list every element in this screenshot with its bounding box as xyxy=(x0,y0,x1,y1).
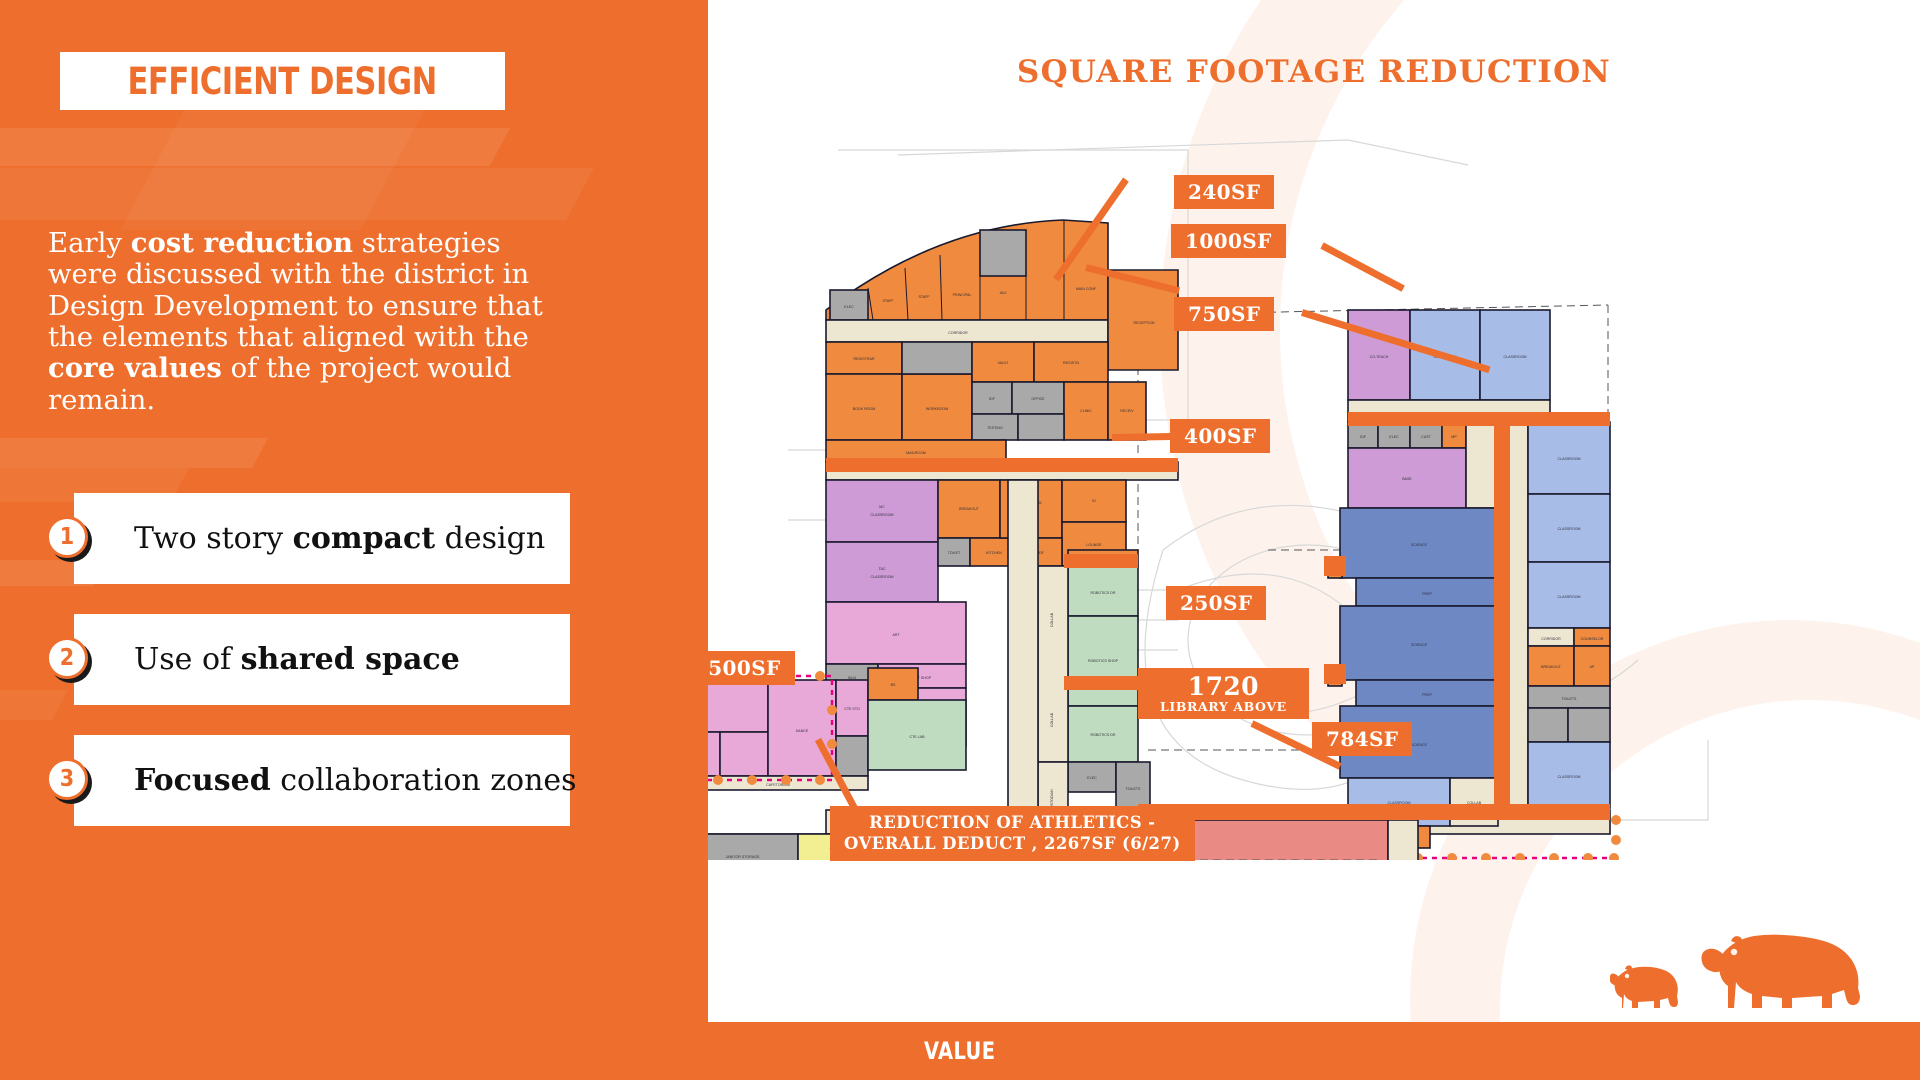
svg-text:BASE: BASE xyxy=(1402,477,1412,481)
callout-athletics-line2: OVERALL DEDUCT , 2267SF (6/27) xyxy=(844,834,1181,855)
svg-text:MC: MC xyxy=(879,505,885,509)
svg-text:CORRIDOR: CORRIDOR xyxy=(948,331,968,335)
numbered-strategy-list: 1 Two story compact design 2 Use of shar… xyxy=(74,493,570,856)
svg-text:CLASSROOM: CLASSROOM xyxy=(1558,595,1581,599)
list-item[interactable]: 3 Focused collaboration zones xyxy=(74,735,570,826)
svg-text:SCIENCE: SCIENCE xyxy=(1411,743,1428,747)
svg-text:OFFICE: OFFICE xyxy=(1031,397,1045,401)
callout-250sf[interactable]: 250SF xyxy=(1166,586,1266,620)
svg-text:ART: ART xyxy=(892,633,900,637)
callout-750sf[interactable]: 750SF xyxy=(1174,297,1274,331)
svg-text:REGISTRAR: REGISTRAR xyxy=(854,357,875,361)
svg-text:ROBOTICS SHOP: ROBOTICS SHOP xyxy=(1088,659,1119,663)
callout-1720-library[interactable]: 1720 LIBRARY ABOVE xyxy=(1138,668,1309,719)
svg-text:CORRIDOR: CORRIDOR xyxy=(1541,637,1561,641)
svg-text:TOILETS: TOILETS xyxy=(1562,697,1578,701)
svg-text:MP: MP xyxy=(1451,435,1457,439)
svg-text:RECEIV: RECEIV xyxy=(1120,409,1134,413)
plan-title: SQUARE FOOTAGE REDUCTION xyxy=(708,54,1920,90)
svg-text:TESTING: TESTING xyxy=(987,426,1003,430)
svg-text:PRINCIPAL: PRINCIPAL xyxy=(953,293,972,297)
svg-text:COLLAB: COLLAB xyxy=(1050,612,1054,627)
decorative-stripe xyxy=(120,100,429,230)
callout-1000sf[interactable]: 1000SF xyxy=(1171,224,1286,258)
svg-text:TOILET: TOILET xyxy=(948,551,961,555)
callout-240sf[interactable]: 240SF xyxy=(1174,175,1274,209)
svg-text:SCIENCE: SCIENCE xyxy=(1411,643,1428,647)
list-item[interactable]: 1 Two story compact design xyxy=(74,493,570,584)
left-content-panel: EFFICIENT DESIGN Early cost reduction st… xyxy=(0,0,708,1022)
decorative-stripe xyxy=(0,438,268,468)
list-number-badge: 3 xyxy=(46,758,92,804)
svg-text:REGISTN: REGISTN xyxy=(1063,361,1079,365)
callout-1720-sublabel: LIBRARY ABOVE xyxy=(1160,700,1287,713)
footer-label: VALUE xyxy=(924,1037,996,1065)
svg-text:CTE STO: CTE STO xyxy=(844,707,860,711)
svg-text:SCIENCE: SCIENCE xyxy=(1411,543,1428,547)
svg-text:CLASSROOM: CLASSROOM xyxy=(1558,775,1581,779)
callout-1720-value: 1720 xyxy=(1188,674,1259,700)
svg-text:BS: BS xyxy=(891,683,896,687)
svg-text:ID: ID xyxy=(1092,499,1096,503)
svg-text:MAILROOM: MAILROOM xyxy=(906,451,926,455)
svg-text:BOOK ROOM: BOOK ROOM xyxy=(853,407,876,411)
list-number-badge: 2 xyxy=(46,637,92,683)
hippo-silhouettes xyxy=(1610,910,1910,1022)
svg-text:ROBOTICS DR: ROBOTICS DR xyxy=(1091,733,1116,737)
svg-text:CO-TEACH: CO-TEACH xyxy=(1370,355,1389,359)
svg-text:ELEC: ELEC xyxy=(1087,776,1097,780)
svg-text:COUNSELOR: COUNSELOR xyxy=(1581,637,1604,641)
svg-text:RECEPTION: RECEPTION xyxy=(1134,321,1155,325)
svg-text:CTE LAB: CTE LAB xyxy=(910,735,926,739)
decorative-stripe xyxy=(0,690,68,720)
svg-text:ROBOTICS DR: ROBOTICS DR xyxy=(1091,591,1116,595)
slide-footer: VALUE xyxy=(0,1022,1920,1080)
svg-text:PREP: PREP xyxy=(1422,693,1432,697)
zone-classrooms-north: CO-TEACH CLASSROOM CLASSROOM xyxy=(1348,310,1550,422)
body-paragraph: Early cost reduction strategies were dis… xyxy=(48,228,548,416)
slide-title: EFFICIENT DESIGN xyxy=(128,60,437,103)
svg-text:CLASSROOM: CLASSROOM xyxy=(1558,457,1581,461)
svg-text:STAFF: STAFF xyxy=(882,299,894,303)
svg-text:WORKROOM: WORKROOM xyxy=(926,407,948,411)
svg-text:TAC: TAC xyxy=(879,567,886,571)
callout-400sf[interactable]: 400SF xyxy=(1170,419,1270,453)
svg-text:CLASSROOM: CLASSROOM xyxy=(1504,355,1527,359)
svg-text:PREP: PREP xyxy=(1422,592,1432,596)
svg-text:COLLAB: COLLAB xyxy=(1050,712,1054,727)
svg-text:MAIN CONF: MAIN CONF xyxy=(1076,287,1097,291)
decorative-stripe xyxy=(0,168,594,220)
svg-text:STAFF: STAFF xyxy=(918,295,930,299)
right-plan-panel: SQUARE FOOTAGE REDUCTION .w{stroke:#1a1a… xyxy=(708,0,1920,1022)
badge-number: 2 xyxy=(46,637,88,679)
svg-text:VAULT: VAULT xyxy=(997,361,1009,365)
svg-text:TOILETS: TOILETS xyxy=(1126,787,1142,791)
svg-text:IDF: IDF xyxy=(989,397,996,401)
badge-number: 1 xyxy=(46,516,88,558)
leader-line xyxy=(1112,433,1172,441)
svg-text:CUST: CUST xyxy=(1421,435,1432,439)
svg-text:CLASSROOM: CLASSROOM xyxy=(871,575,894,579)
corridor-spine xyxy=(1008,480,1038,820)
svg-text:CLASSROOM: CLASSROOM xyxy=(1558,527,1581,531)
floor-plan-stage: .w{stroke:#1a1a2e;stroke-width:1.6;} .wt… xyxy=(708,120,1920,860)
list-item[interactable]: 2 Use of shared space xyxy=(74,614,570,705)
badge-number: 3 xyxy=(46,758,88,800)
svg-text:ELEC: ELEC xyxy=(1389,435,1399,439)
callout-athletics-line1: REDUCTION OF ATHLETICS - xyxy=(869,813,1155,834)
callout-athletics-reduction[interactable]: REDUCTION OF ATHLETICS - OVERALL DEDUCT … xyxy=(830,806,1195,861)
svg-text:LOUNGE: LOUNGE xyxy=(1086,543,1102,547)
svg-text:BREAKOUT: BREAKOUT xyxy=(959,507,980,511)
callout-784sf[interactable]: 784SF xyxy=(1312,722,1412,756)
list-item-label: Two story compact design xyxy=(134,521,545,556)
list-item-label: Focused collaboration zones xyxy=(134,763,577,798)
callout-1500sf[interactable]: +/- 1500SF xyxy=(708,651,795,685)
decorative-stripe xyxy=(0,128,510,166)
svg-text:CLINIC: CLINIC xyxy=(1080,409,1092,413)
zone-administration: ELEC STAFF STAFF PRINCIPAL ADJ MAIN CONF… xyxy=(826,220,1178,480)
list-item-label: Use of shared space xyxy=(134,642,460,677)
svg-text:CLASSROOM: CLASSROOM xyxy=(871,513,894,517)
svg-text:BREAKOUT: BREAKOUT xyxy=(1541,665,1562,669)
zone-classrooms-east: CLASSROOM CLASSROOM CLASSROOM CORRIDOR C… xyxy=(1528,422,1610,808)
list-number-badge: 1 xyxy=(46,516,92,562)
svg-text:AP: AP xyxy=(1590,665,1595,669)
svg-text:DANCE: DANCE xyxy=(796,729,809,733)
svg-text:ELEC: ELEC xyxy=(844,305,854,309)
svg-text:ADJ: ADJ xyxy=(1000,291,1007,295)
slide-title-box: EFFICIENT DESIGN xyxy=(60,52,505,110)
svg-text:JANITOR STORAGE,: JANITOR STORAGE, xyxy=(726,855,761,859)
svg-text:KITCHEN: KITCHEN xyxy=(986,551,1002,555)
svg-text:IDF: IDF xyxy=(1360,435,1367,439)
